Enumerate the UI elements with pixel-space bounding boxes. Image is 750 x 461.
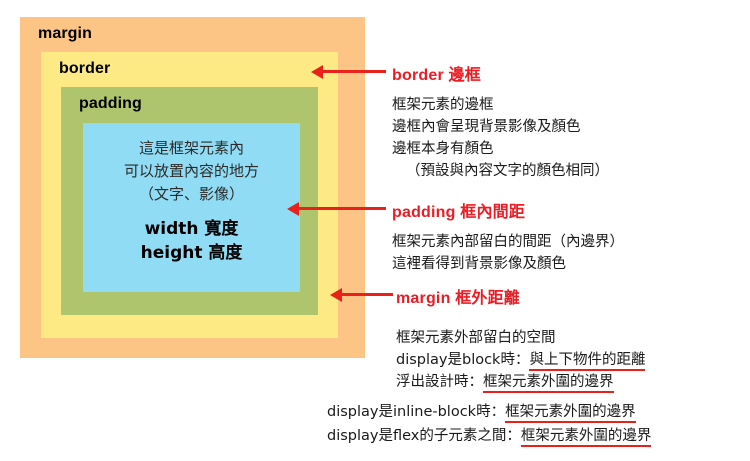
content-box-description: 這是框架元素內 可以放置內容的地方 （文字、影像） [83,137,300,206]
annotation-padding-body: 框架元素內部留白的間距（內邊界） 這裡看得到背景影像及顏色 [392,231,624,275]
content-line-1: 這是框架元素內 [83,137,300,160]
extra-rule-1-emphasis: 框架元素外圍的邊界 [505,404,636,423]
annotation-border-line-1: 框架元素的邊框 [392,94,609,116]
annotation-padding: padding 框內間距 框架元素內部留白的間距（內邊界） 這裡看得到背景影像及… [392,198,624,275]
extra-rule-2-emphasis: 框架元素外圍的邊界 [521,428,652,447]
annotation-margin-rule-2: 浮出設計時：框架元素外圍的邊界 [396,371,645,393]
annotation-padding-heading: padding 框內間距 [392,198,624,222]
annotation-margin: margin 框外距離 框架元素外部留白的空間 display是block時：與… [396,284,645,393]
extra-rule-1: display是inline-block時：框架元素外圍的邊界 [327,400,651,424]
extra-rule-1-prefix: display是inline-block時： [327,404,505,420]
content-width-label: width 寬度 [83,217,300,241]
annotation-border-line-4: （預設與內容文字的顏色相同） [392,160,609,182]
content-line-3: （文字、影像） [83,183,300,206]
arrow-to-padding-icon [298,207,386,210]
annotation-padding-line-2: 這裡看得到背景影像及顏色 [392,253,624,275]
content-height-label: height 高度 [83,241,300,265]
content-box-dimensions: width 寬度 height 高度 [83,217,300,265]
content-box: 這是框架元素內 可以放置內容的地方 （文字、影像） width 寬度 heigh… [83,123,300,292]
annotation-margin-rule-2-prefix: 浮出設計時： [396,374,483,390]
annotation-border-body: 框架元素的邊框 邊框內會呈現背景影像及顏色 邊框本身有顏色 （預設與內容文字的顏… [392,94,609,182]
arrow-to-margin-icon [341,293,393,296]
margin-box-label: margin [38,25,92,43]
padding-box-label: padding [79,95,142,113]
arrow-to-border-icon [322,70,386,73]
annotation-margin-body: 框架元素外部留白的空間 display是block時：與上下物件的距離 浮出設計… [396,327,645,393]
extra-rule-2: display是flex的子元素之間：框架元素外圍的邊界 [327,424,651,448]
padding-box: padding 這是框架元素內 可以放置內容的地方 （文字、影像） width … [61,87,318,315]
annotation-padding-line-1: 框架元素內部留白的間距（內邊界） [392,231,624,253]
annotation-border-heading: border 邊框 [392,61,609,85]
annotation-margin-line-1: 框架元素外部留白的空間 [396,327,645,349]
extra-rule-2-prefix: display是flex的子元素之間： [327,428,521,444]
annotation-margin-rule-1-emphasis: 與上下物件的距離 [529,352,645,371]
annotation-margin-rule-1-prefix: display是block時： [396,352,529,368]
annotation-border: border 邊框 框架元素的邊框 邊框內會呈現背景影像及顏色 邊框本身有顏色 … [392,61,609,182]
annotation-margin-rule-2-emphasis: 框架元素外圍的邊界 [483,374,614,393]
annotation-margin-heading: margin 框外距離 [396,284,645,308]
box-model-diagram-page: margin border padding 這是框架元素內 可以放置內容的地方 … [0,0,750,461]
content-line-2: 可以放置內容的地方 [83,160,300,183]
extra-display-rules: display是inline-block時：框架元素外圍的邊界 display是… [327,400,651,448]
annotation-border-line-3: 邊框本身有顏色 [392,138,609,160]
border-box: border padding 這是框架元素內 可以放置內容的地方 （文字、影像）… [41,52,338,338]
border-box-label: border [59,60,110,78]
annotation-margin-rule-1: display是block時：與上下物件的距離 [396,349,645,371]
annotation-border-line-2: 邊框內會呈現背景影像及顏色 [392,116,609,138]
